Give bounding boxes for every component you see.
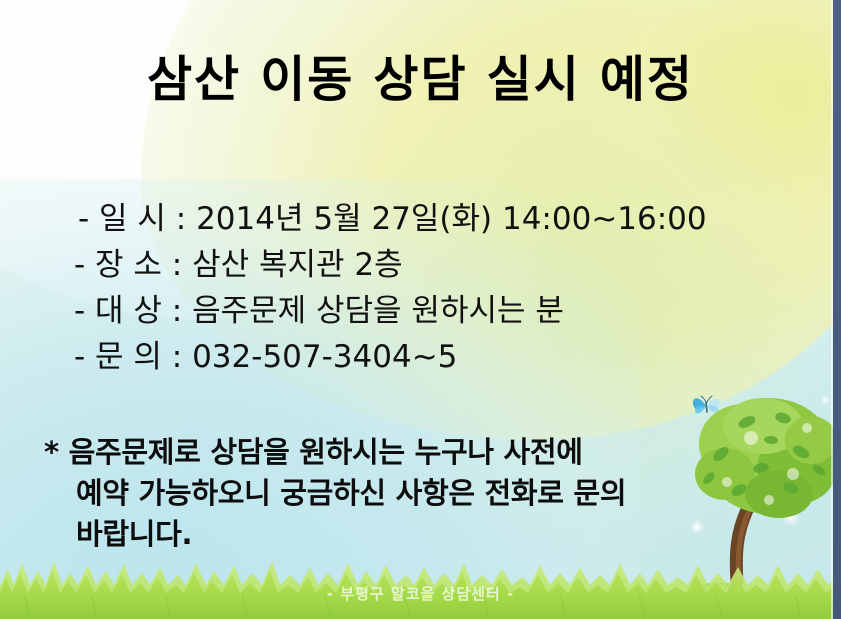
page-title: 삼산 이동 상담 실시 예정 [0, 40, 841, 111]
note-line-1: * 음주문제로 상담을 원하시는 누구나 사전에 [44, 432, 744, 473]
footer-organization: - 부평구 알코올 상담센터 - [0, 583, 841, 604]
note-line-2: 예약 가능하오니 궁금하신 사항은 전화로 문의 [44, 473, 744, 514]
info-line-datetime: - 일 시 : 2014년 5월 27일(화) 14:00~16:00 [78, 196, 794, 242]
info-list: - 일 시 : 2014년 5월 27일(화) 14:00~16:00 - 장 … [74, 196, 794, 380]
note-line-3: 바랍니다. [44, 514, 744, 555]
info-line-contact: - 문 의 : 032-507-3404~5 [74, 334, 794, 380]
right-border-strip [833, 0, 841, 619]
butterfly-icon [690, 392, 724, 420]
butterfly-svg [690, 392, 724, 420]
info-line-target: - 대 상 : 음주문제 상담을 원하시는 분 [74, 288, 794, 334]
info-line-location: - 장 소 : 삼산 복지관 2층 [74, 242, 794, 288]
announcement-slide: 삼산 이동 상담 실시 예정 - 일 시 : 2014년 5월 27일(화) 1… [0, 0, 841, 619]
note-block: * 음주문제로 상담을 원하시는 누구나 사전에 예약 가능하오니 궁금하신 사… [44, 432, 744, 555]
